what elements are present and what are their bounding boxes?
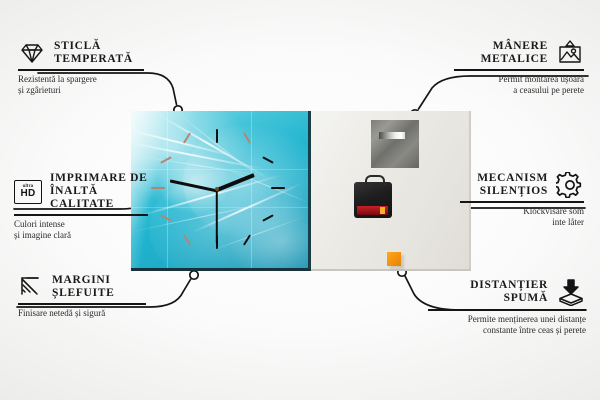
callout-distantier-spuma: DISTANȚIER SPUMĂ Permite menținerea unei… (426, 278, 586, 336)
callout-rule (460, 201, 584, 203)
infographic-canvas: STICLĂ TEMPERATĂ Rezistentă la spargere … (0, 0, 600, 400)
callout-title-line1: MÂNERE (452, 40, 548, 53)
battery-plus-terminal (380, 207, 385, 214)
callout-mecanism-silentios: MECANISM SILENȚIOS Klockvisare som inte … (458, 172, 584, 228)
callout-title-line1: MARGINI (52, 274, 114, 287)
gear-icon (556, 172, 584, 198)
callout-title-line1: DISTANȚIER (426, 279, 548, 292)
callout-subtitle-line1: Culori intense (14, 219, 150, 230)
press-down-pad-icon (556, 278, 586, 306)
callout-rule (428, 309, 586, 311)
callout-margini-slefuite: MARGINI ȘLEFUITE Finisare netedă și sigu… (18, 274, 148, 319)
callout-title-line2: ÎNALTĂ CALITATE (50, 185, 150, 211)
callout-title-line2: SPUMĂ (426, 292, 548, 305)
callout-manere-metalice: MÂNERE METALICE Permit montarea ușoară a… (452, 40, 584, 96)
callout-sticla-temperata: STICLĂ TEMPERATĂ Rezistentă la spargere … (18, 40, 146, 96)
second-hand (216, 190, 218, 244)
clock-face (131, 111, 311, 271)
callout-subtitle-line1: Finisare netedă și sigură (18, 308, 148, 319)
callout-title-line2: ȘLEFUITE (52, 287, 114, 300)
ultra-hd-icon-large-label: HD (20, 189, 35, 199)
callout-imprimare-inalta-calitate: ultra HD IMPRIMARE DE ÎNALTĂ CALITATE Cu… (14, 172, 150, 241)
callout-subtitle-line1: Permit montarea ușoară (452, 74, 584, 85)
connector-dot-edges (190, 271, 198, 279)
callout-title-line1: IMPRIMARE DE (50, 172, 150, 185)
callout-subtitle-line1: Rezistentă la spargere (18, 74, 146, 85)
callout-subtitle-line1: Klockvisare som (458, 206, 584, 217)
battery (357, 206, 388, 215)
hanger-slot (379, 132, 405, 139)
callout-rule (18, 69, 144, 71)
metal-hanger-plate (371, 120, 419, 168)
callout-rule (454, 69, 584, 71)
foam-spacer (387, 252, 401, 266)
diamond-icon (18, 41, 46, 65)
callout-title-line2: SILENȚIOS (458, 185, 548, 198)
ultra-hd-icon: ultra HD (14, 180, 42, 204)
callout-subtitle-line2: și zgârieturi (18, 85, 146, 96)
callout-title-line1: STICLĂ (54, 40, 133, 53)
mechanism-hanger-loop (365, 175, 385, 186)
callout-title-line2: METALICE (452, 53, 548, 66)
callout-subtitle-line2: a ceasului pe perete (452, 85, 584, 96)
callout-title-line2: TEMPERATĂ (54, 53, 133, 66)
polished-edges-icon (18, 275, 44, 299)
callout-subtitle-line2: constante între ceas și perete (426, 325, 586, 336)
callout-rule (14, 214, 148, 216)
callout-rule (18, 303, 146, 305)
callout-subtitle-line2: și imagine clară (14, 230, 150, 241)
hanging-frame-icon (556, 40, 584, 66)
callout-subtitle-line1: Permite menținerea unei distanțe (426, 314, 586, 325)
clock-back (311, 111, 471, 271)
callout-title-line1: MECANISM (458, 172, 548, 185)
callout-subtitle-line2: inte låter (458, 217, 584, 228)
clock-mechanism (354, 182, 392, 218)
